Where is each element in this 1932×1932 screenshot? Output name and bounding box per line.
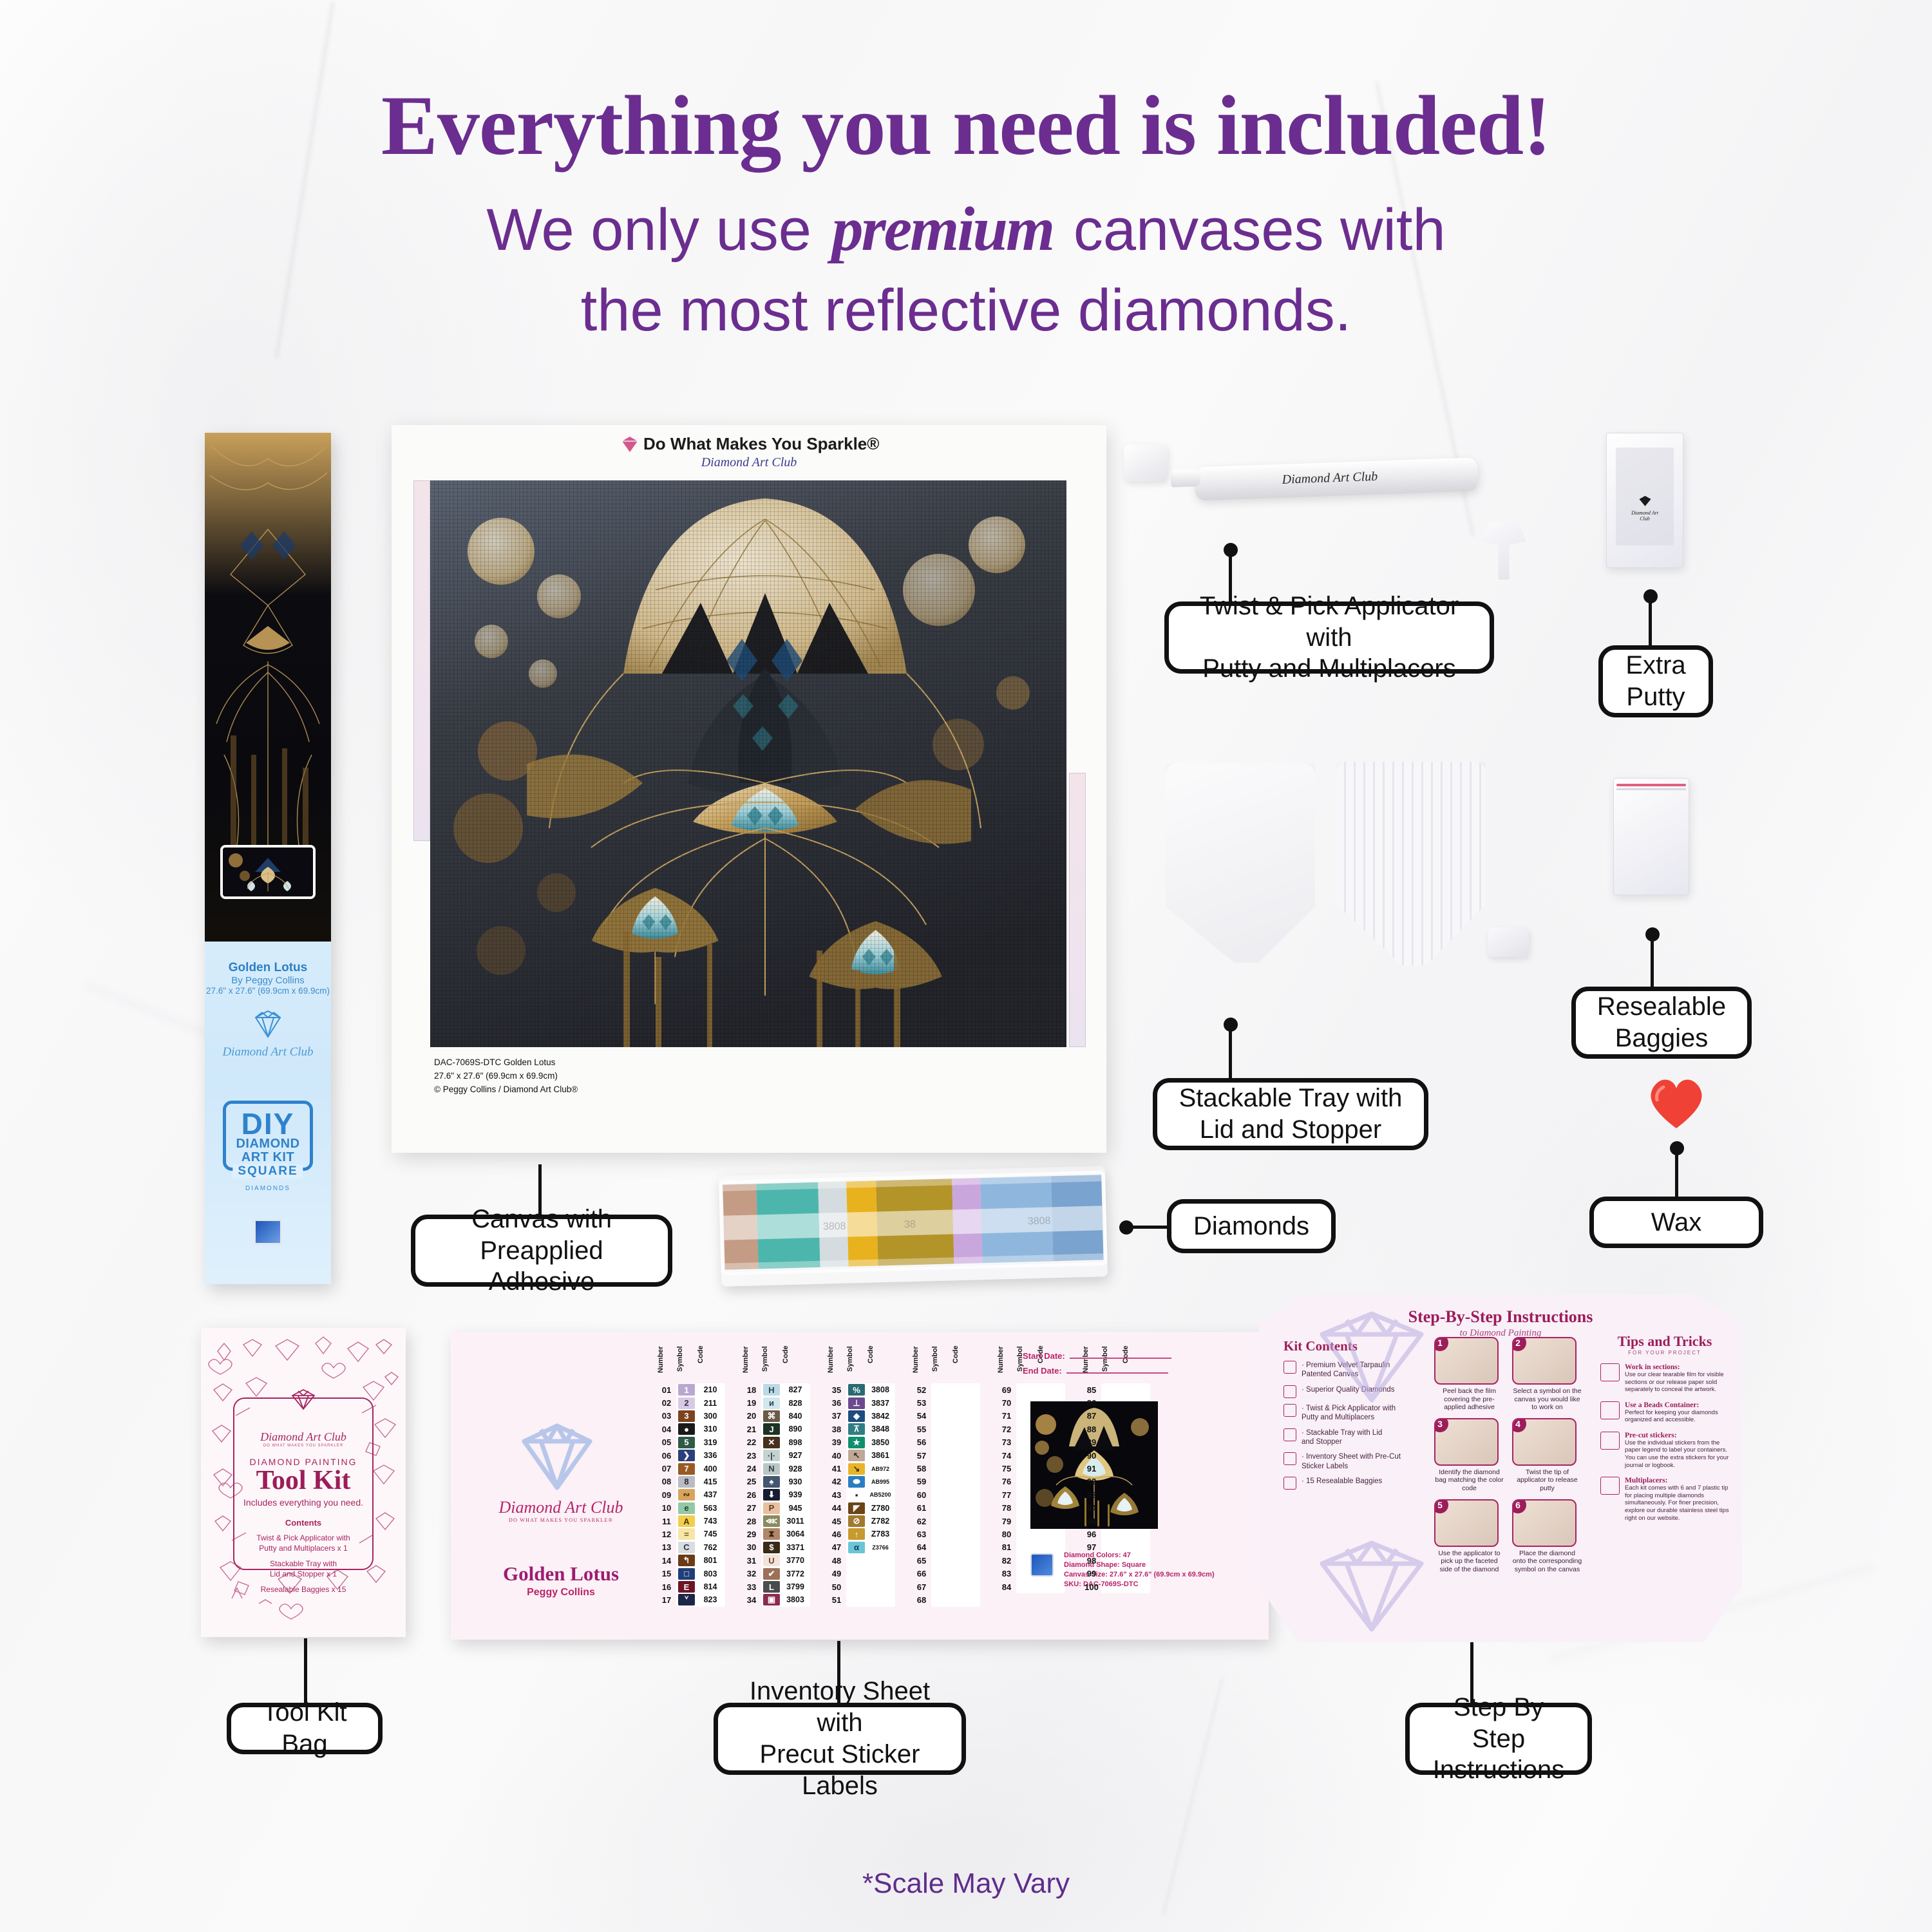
inventory-symbol-swatch: ⬇ [763,1489,780,1501]
inventory-sheet[interactable]: Diamond Art Club DO WHAT MAKES YOU SPARK… [451,1332,1269,1640]
callout-inventory[interactable]: Inventory Sheet with Precut Sticker Labe… [714,1703,966,1775]
inventory-row: 04●310 [657,1423,724,1435]
toolkit-subheading: Includes everything you need. [234,1497,372,1508]
inventory-symbol-swatch: ᴎ [763,1397,780,1409]
instructions-bottom-diamond-watermark [1298,1538,1446,1634]
inventory-row: 71 [997,1410,1064,1423]
instruction-step-text: Twist the tip of applicator to release p… [1512,1468,1582,1493]
inventory-number: 28 [742,1517,761,1526]
inventory-row: 66 [912,1567,979,1580]
callout-instructions-label: Step By Step Instructions [1426,1692,1571,1786]
inventory-number: 89 [1082,1437,1101,1447]
inventory-number: 59 [912,1477,931,1486]
inventory-number: 26 [742,1490,761,1500]
inventory-number: 31 [742,1556,761,1566]
inventory-number: 10 [657,1503,676,1513]
instruction-step: 2Select a symbol on the canvas you would… [1512,1337,1582,1412]
inventory-symbol-swatch [1103,1476,1120,1488]
inventory-row: 87 [1082,1410,1149,1423]
inventory-number: 68 [912,1595,931,1605]
inventory-row: 72 [997,1423,1064,1435]
inventory-code: 3011 [782,1517,809,1526]
inventory-row: 67 [912,1580,979,1593]
instruction-step: 6Place the diamond onto the correspondin… [1512,1499,1582,1574]
callout-leader-putty [1649,595,1652,645]
inventory-symbol-swatch: ▪ [848,1489,865,1501]
inventory-column: NumberSymbolCode35%380836⊥383737◆384238⊼… [827,1343,894,1607]
inventory-code: 927 [782,1451,809,1460]
callout-toolkit[interactable]: Tool Kit Bag [227,1703,383,1754]
inventory-symbol-swatch [1018,1502,1035,1514]
inventory-symbol-swatch: 2 [678,1397,695,1409]
canvas-artwork [430,480,1066,1047]
inventory-code: 945 [782,1504,809,1513]
instruction-step-text: Identify the diamond bag matching the co… [1434,1468,1504,1493]
inventory-row: 75 [997,1462,1064,1475]
inventory-row: 77 [997,1488,1064,1501]
inventory-symbol-swatch: ⊥ [848,1397,865,1409]
inventory-row: 33L3799 [742,1580,809,1593]
inventory-row: 57 [912,1449,979,1462]
inventory-number: 14 [657,1556,676,1566]
subtitle-line-1: We only use premium canvases with [0,193,1932,265]
inventory-symbol-swatch [933,1542,950,1553]
inventory-row: 06❯336 [657,1449,724,1462]
inventory-row: 35%3808 [827,1383,894,1396]
inventory-column-header: Symbol [931,1346,952,1383]
inventory-code: 319 [697,1438,724,1447]
inventory-number: 32 [742,1569,761,1578]
inventory-symbol-swatch [1018,1568,1035,1580]
inventory-column-header: Number [997,1346,1016,1383]
callout-diamonds[interactable]: Diamonds [1167,1199,1336,1253]
callout-applicator-label: Twist & Pick Applicator with Putty and M… [1186,591,1473,685]
tray-stopper [1488,927,1529,957]
inventory-symbol-swatch [1018,1437,1035,1448]
inventory-row: 42⬬AB995 [827,1475,894,1488]
inventory-number: 51 [827,1595,846,1605]
instruction-step-number: 3 [1434,1418,1448,1432]
sleeve-square-label: SQUARE [232,1164,303,1179]
step-by-step-instructions-sheet[interactable]: Step-By-Step Instructions to Diamond Pai… [1259,1294,1742,1642]
inventory-symbol-swatch: α [848,1542,865,1553]
inventory-row: 45⊘Z782 [827,1515,894,1528]
inventory-row: 011210 [657,1383,724,1396]
inventory-symbol-swatch: ✔ [763,1568,780,1580]
inventory-number: 72 [997,1425,1016,1434]
inventory-number: 25 [742,1477,761,1486]
inventory-symbol-swatch: ❯ [678,1450,695,1461]
inventory-number: 67 [912,1582,931,1592]
canvas-sparkle-tagline: Do What Makes You Sparkle® [643,434,879,454]
inventory-row: 27P945 [742,1502,809,1515]
inventory-number: 41 [827,1464,846,1473]
inventory-symbol-swatch: U [763,1555,780,1566]
inventory-symbol-swatch: ◆ [848,1410,865,1422]
inventory-symbol-swatch: ⧗ [763,1528,780,1540]
inventory-symbol-swatch: A [678,1515,695,1527]
inventory-column-header: Symbol [761,1346,782,1383]
tip-body: Perfect for keeping your diamonds organi… [1625,1409,1729,1424]
kit-contents-item: · Inventory Sheet with Pre-Cut Sticker L… [1283,1452,1419,1471]
inventory-number: 37 [827,1411,846,1421]
sleeve-artist: By Peggy Collins [205,975,331,986]
diamond-logo-icon [619,436,641,453]
inventory-symbol-swatch [1103,1515,1120,1527]
inventory-row: 100 [1082,1580,1149,1593]
inventory-symbol-swatch [1018,1528,1035,1540]
inventory-symbol-swatch [1018,1476,1035,1488]
inventory-code: 437 [697,1490,724,1499]
inventory-row: 86 [1082,1396,1149,1409]
inventory-row: 85 [1082,1383,1149,1396]
stackable-tray [1336,762,1486,965]
inventory-number: 92 [1082,1477,1101,1486]
inventory-column: NumberSymbolCode858687888990919293949596… [1082,1343,1149,1607]
subtitle-line-2: the most reflective diamonds. [0,277,1932,345]
callout-canvas[interactable]: Canvas with Preapplied Adhesive [411,1215,672,1287]
toolkit-diamond-icon [287,1388,320,1410]
inventory-row: 47αZ3766 [827,1541,894,1554]
subtitle-pre: We only use [486,197,811,263]
inventory-row: 81 [997,1541,1064,1554]
inventory-symbol-swatch [933,1476,950,1488]
callout-instructions[interactable]: Step By Step Instructions [1405,1703,1592,1775]
inventory-number: 63 [912,1529,931,1539]
inventory-number: 30 [742,1542,761,1552]
inventory-code: 745 [697,1529,724,1539]
inventory-row: 82 [997,1554,1064,1567]
instruction-step-number: 2 [1512,1337,1526,1351]
callout-wax-label: Wax [1651,1207,1702,1238]
inventory-column-header: Code [952,1346,979,1383]
sleeve-diamond-swatch [205,1219,331,1245]
inventory-column: NumberSymbolCode525354555657585960616263… [912,1343,979,1607]
inventory-number: 73 [997,1437,1016,1447]
inventory-symbol-swatch [933,1581,950,1593]
inventory-row: 83 [997,1567,1064,1580]
packaging-sleeve[interactable]: Golden Lotus By Peggy Collins 27.6" x 27… [205,433,331,1284]
sleeve-square-sub: DIAMONDS [205,1185,331,1192]
end-date-label: End Date: [1023,1366,1062,1376]
inventory-symbol-swatch: C [678,1542,695,1553]
kit-contents-item: · Stackable Tray with Lid and Stopper [1283,1428,1419,1447]
inventory-symbol-swatch [1103,1463,1120,1475]
toolkit-label: Diamond Art Club DO WHAT MAKES YOU SPARK… [233,1397,374,1570]
inventory-row: 18H827 [742,1383,809,1396]
inventory-symbol-swatch: ∾ [678,1489,695,1501]
inventory-number: 97 [1082,1542,1101,1552]
inventory-row: 96 [1082,1528,1149,1540]
multiplacer-tip [1481,522,1526,580]
inventory-row: 22✕898 [742,1436,809,1449]
toolkit-brand: Diamond Art Club [234,1430,372,1444]
tip-icon [1600,1477,1620,1495]
tip-icon [1600,1432,1620,1450]
inventory-code: 3861 [867,1451,894,1460]
inventory-symbol-swatch: ♠ [763,1476,780,1488]
inventory-code: AB995 [867,1479,894,1485]
inventory-number: 58 [912,1464,931,1473]
inventory-symbol-swatch: ⌘ [763,1410,780,1422]
inventory-number: 99 [1082,1569,1101,1578]
inventory-row: 92 [1082,1475,1149,1488]
inventory-number: 82 [997,1556,1016,1566]
inventory-number: 83 [997,1569,1016,1578]
callout-wax[interactable]: Wax [1589,1197,1763,1248]
diamond-icon [248,1010,288,1038]
instruction-step-text: Select a symbol on the canvas you would … [1512,1387,1582,1412]
instruction-step-text: Place the diamond onto the corresponding… [1512,1549,1582,1574]
toolkit-brand-tagline: DO WHAT MAKES YOU SPARKLE® [234,1444,372,1448]
inventory-symbol-swatch [848,1581,865,1593]
inventory-code: 827 [782,1385,809,1394]
inventory-code: Z782 [867,1517,894,1526]
inventory-symbol-swatch [1103,1397,1120,1409]
inventory-number: 50 [827,1582,846,1592]
tip-item: Pre-cut stickers:Use the individual stic… [1600,1432,1729,1469]
inventory-brand-name: Diamond Art Club [498,1498,623,1517]
inventory-symbol-swatch [848,1555,865,1566]
diamond-bags-svg: 3808383808 [719,1166,1108,1287]
tip-icon [1600,1363,1620,1381]
inventory-row: 13C762 [657,1541,724,1554]
inventory-row: 19ᴎ828 [742,1396,809,1409]
inventory-brand: Diamond Art Club DO WHAT MAKES YOU SPARK… [487,1498,635,1523]
diamond-painting-canvas[interactable]: Do What Makes You Sparkle® Diamond Art C… [392,425,1106,1153]
canvas-copyright: © Peggy Collins / Diamond Art Club® [434,1083,578,1097]
callout-putty[interactable]: Extra Putty [1598,645,1713,717]
inventory-number: 62 [912,1517,931,1526]
inventory-number: 34 [742,1595,761,1605]
inventory-number: 64 [912,1542,931,1552]
callout-tray[interactable]: Stackable Tray with Lid and Stopper [1153,1078,1428,1150]
inventory-number: 77 [997,1490,1016,1500]
inventory-number: 39 [827,1437,846,1447]
inventory-row: 16E814 [657,1580,724,1593]
inventory-row: 12=745 [657,1528,724,1540]
inventory-row: 69 [997,1383,1064,1396]
inventory-number: 02 [657,1398,676,1408]
end-date-field[interactable] [1066,1372,1168,1374]
tip-body: Each kit comes with 6 and 7 plastic tip … [1625,1484,1729,1522]
inventory-code: 762 [697,1543,724,1552]
toolkit-content-item: Resealable Baggies x 15 [234,1585,372,1595]
sleeve-brand-script: Diamond Art Club [205,1045,331,1059]
inventory-number: 11 [657,1517,676,1526]
sleeve-kit-line1: DIAMOND [229,1137,307,1150]
start-date-row[interactable]: Start Date: [1023,1351,1171,1361]
inventory-number: 96 [1082,1529,1101,1539]
toolkit-heading: Tool Kit [234,1467,372,1494]
inventory-column: NumberSymbolCode697071727374757677787980… [997,1343,1064,1607]
inventory-row: 95 [1082,1515,1149,1528]
inventory-symbol-swatch [933,1463,950,1475]
callout-canvas-label: Canvas with Preapplied Adhesive [432,1204,651,1298]
inventory-symbol-swatch [1103,1489,1120,1501]
inventory-number: 40 [827,1451,846,1461]
inventory-number: 57 [912,1451,931,1461]
callout-baggies[interactable]: Resealable Baggies [1571,987,1752,1059]
inventory-column-header: Code [867,1346,894,1383]
inventory-code: 3842 [867,1412,894,1421]
inventory-code: 801 [697,1556,724,1565]
inventory-number: 29 [742,1529,761,1539]
inventory-symbol-swatch: = [678,1528,695,1540]
inventory-number: 19 [742,1398,761,1408]
instruction-step-image: 4 [1512,1418,1577,1466]
inventory-symbol-swatch [933,1515,950,1527]
inventory-number: 24 [742,1464,761,1473]
inventory-row: 93 [1082,1488,1149,1501]
inventory-row: 23·|·927 [742,1449,809,1462]
inventory-row: 28⋘3011 [742,1515,809,1528]
inventory-artist: Peggy Collins [487,1587,635,1598]
sleeve-size: 27.6" x 27.6" (69.9cm x 69.9cm) [205,986,331,996]
inventory-row: 17ᘁ823 [657,1593,724,1606]
inventory-row: 52 [912,1383,979,1396]
tool-kit-bag[interactable]: Diamond Art Club DO WHAT MAKES YOU SPARK… [201,1328,406,1637]
inventory-row: 39★3850 [827,1436,894,1449]
inventory-row: 91 [1082,1462,1149,1475]
inventory-row: 30$3371 [742,1541,809,1554]
inventory-number: 05 [657,1437,676,1447]
inventory-symbol-swatch: N [763,1463,780,1475]
inventory-row: 54 [912,1410,979,1423]
toolkit-contents-label: Contents [234,1518,372,1528]
inventory-row: 79 [997,1515,1064,1528]
inventory-row: 40↖3861 [827,1449,894,1462]
tip-icon [1600,1401,1620,1419]
inventory-diamond-icon [507,1422,607,1495]
inventory-column-header: Code [697,1346,724,1383]
inventory-symbol-swatch: ⬬ [848,1476,865,1488]
inventory-row: 37◆3842 [827,1410,894,1423]
inventory-symbol-swatch [1103,1528,1120,1540]
canvas-brand-script: Diamond Art Club [392,455,1106,470]
inventory-row: 84 [997,1580,1064,1593]
inventory-number: 81 [997,1542,1016,1552]
inventory-row: 11A743 [657,1515,724,1528]
inventory-number: 44 [827,1503,846,1513]
inventory-code: 3770 [782,1556,809,1565]
inventory-code: 823 [697,1595,724,1604]
inventory-symbol-swatch [1018,1542,1035,1553]
instruction-step-number: 6 [1512,1499,1526,1513]
instruction-step-image: 3 [1434,1418,1499,1466]
end-date-row[interactable]: End Date: [1023,1366,1171,1376]
canvas-art-svg [430,480,1066,1047]
inventory-row: 98 [1082,1554,1149,1567]
kit-contents-item-icon [1283,1361,1296,1374]
inventory-symbol-swatch [1103,1423,1120,1435]
inventory-number: 55 [912,1425,931,1434]
instruction-step-image: 2 [1512,1337,1577,1385]
inventory-number: 61 [912,1503,931,1513]
inventory-number: 06 [657,1451,676,1461]
inventory-symbol-swatch [933,1594,950,1605]
inventory-row: 43▪AB5200 [827,1488,894,1501]
putty-bag-logo: Diamond Art Club [1626,495,1664,522]
toolkit-content-item: Stackable Tray with Lid and Stopper x 1 [234,1559,372,1579]
inventory-symbol-swatch [933,1555,950,1566]
resealable-baggie [1613,778,1689,895]
sleeve-preview-inset [220,845,316,899]
inventory-row: 74 [997,1449,1064,1462]
inventory-code: 928 [782,1464,809,1473]
inventory-row: 21J890 [742,1423,809,1435]
inventory-number: 12 [657,1529,676,1539]
inventory-code: AB972 [867,1466,894,1472]
inventory-code: 3808 [867,1385,894,1394]
inventory-row: 60 [912,1488,979,1501]
callout-applicator[interactable]: Twist & Pick Applicator with Putty and M… [1164,601,1494,674]
inventory-row: 32✔3772 [742,1567,809,1580]
canvas-legend-right [1069,773,1086,1047]
applicator-tip [1171,469,1201,488]
inventory-number: 17 [657,1595,676,1605]
inventory-symbol-swatch [933,1528,950,1540]
inventory-row: 55 [912,1423,979,1435]
inventory-symbol-swatch: ↰ [678,1555,695,1566]
putty-bag-brand: Diamond Art Club [1626,510,1664,522]
inventory-row: 48 [827,1554,894,1567]
inventory-row: 25♠930 [742,1475,809,1488]
inventory-number: 100 [1082,1582,1101,1592]
inventory-row: 077400 [657,1462,724,1475]
inventory-row: 80 [997,1528,1064,1540]
tip-item: Use a Beads Container:Perfect for keepin… [1600,1401,1729,1424]
inventory-row: 41↘AB972 [827,1462,894,1475]
inventory-row: 56 [912,1436,979,1449]
inventory-row: 63 [912,1528,979,1540]
inventory-number: 66 [912,1569,931,1578]
inventory-number: 74 [997,1451,1016,1461]
callout-putty-label: Extra Putty [1625,650,1685,713]
canvas-footer-info: DAC-7069S-DTC Golden Lotus 27.6" x 27.6"… [434,1056,578,1097]
inventory-number: 01 [657,1385,676,1395]
inventory-symbol-swatch [1018,1581,1035,1593]
inventory-symbol-swatch [1018,1489,1035,1501]
inventory-number: 35 [827,1385,846,1395]
inventory-symbol-swatch: ◤ [848,1502,865,1514]
inventory-number: 08 [657,1477,676,1486]
inventory-row: 033300 [657,1410,724,1423]
inventory-number: 69 [997,1385,1016,1395]
inventory-number: 94 [1082,1503,1101,1513]
tip-item: Work in sections:Use our clear tearable … [1600,1363,1729,1394]
inventory-row: 24N928 [742,1462,809,1475]
svg-text:3808: 3808 [1028,1215,1051,1227]
page-title: Everything you need is included! [0,76,1932,175]
inventory-symbol-swatch [1018,1450,1035,1461]
inventory-number: 09 [657,1490,676,1500]
inventory-row: 49 [827,1567,894,1580]
inventory-code: 3837 [867,1399,894,1408]
tips-and-tricks-block: Tips and Tricks FOR YOUR PROJECT Work in… [1600,1333,1729,1529]
inventory-number: 88 [1082,1425,1101,1434]
kit-contents-item-label: · Twist & Pick Applicator with Putty and… [1302,1404,1396,1423]
inventory-number: 53 [912,1398,931,1408]
inventory-code: 211 [697,1399,724,1408]
inventory-number: 70 [997,1398,1016,1408]
instruction-step-number: 4 [1512,1418,1526,1432]
inventory-code: 210 [697,1385,724,1394]
start-date-field[interactable] [1070,1358,1171,1359]
inventory-number: 38 [827,1425,846,1434]
inventory-code: 3799 [782,1582,809,1591]
inventory-number: 84 [997,1582,1016,1592]
